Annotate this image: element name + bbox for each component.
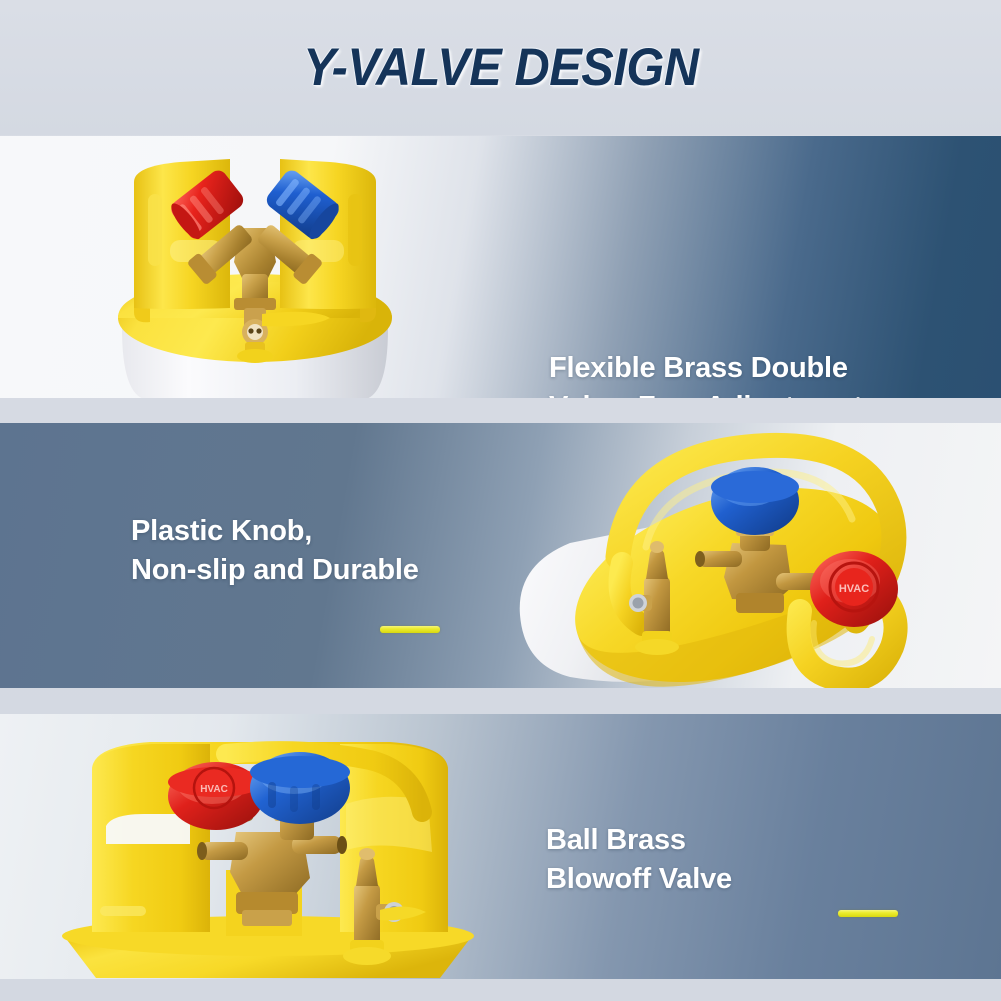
feature-caption-3: Ball Brass Blowoff Valve — [546, 821, 732, 899]
feature-caption-1: Flexible Brass Double Valve, Free Adjust… — [549, 349, 863, 398]
svg-text:HVAC: HVAC — [200, 784, 228, 795]
product-image-front-collar-ball-brass-blowoff-valve: HVAC — [40, 720, 500, 979]
infographic-page: Y-VALVE DESIGN — [0, 0, 1001, 1001]
page-title: Y-VALVE DESIGN — [303, 37, 698, 98]
accent-bar-2 — [380, 626, 440, 633]
feature-caption-2: Plastic Knob, Non-slip and Durable — [131, 512, 419, 590]
feature-panel-3: HVAC — [0, 714, 1001, 979]
feature-panel-1: Flexible Brass Double Valve, Free Adjust… — [0, 136, 1001, 398]
feature-panel-2: Plastic Knob, Non-slip and Durable — [0, 423, 1001, 688]
title-bar: Y-VALVE DESIGN — [0, 0, 1001, 135]
svg-text:HVAC: HVAC — [839, 583, 869, 595]
product-image-tank-top-y-valve — [30, 136, 500, 398]
accent-bar-3 — [838, 910, 898, 917]
product-image-angled-tank-blowoff-valve: HVAC — [500, 423, 980, 688]
